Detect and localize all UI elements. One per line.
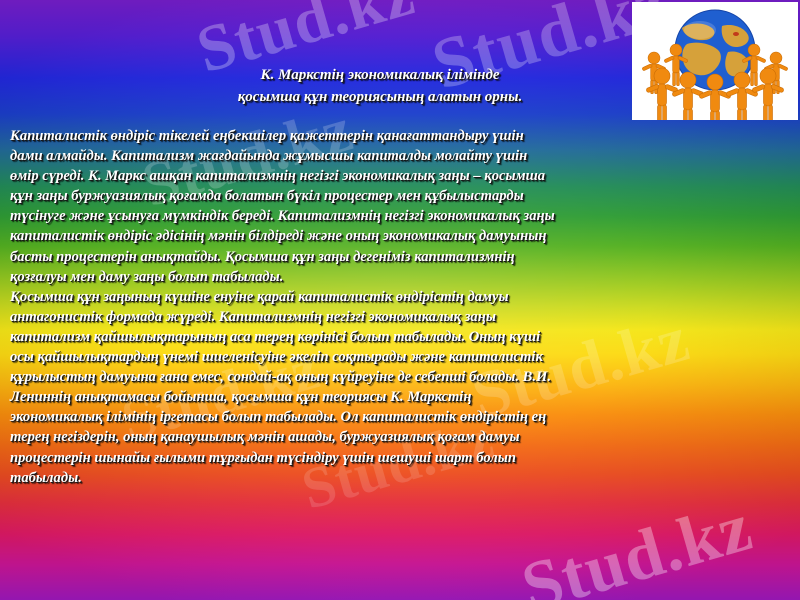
body-line: капитализм қайшылықтарының аса терең көр… xyxy=(10,327,796,347)
body-line: дами алмайды. Капитализм жағдайында жұмы… xyxy=(10,146,796,166)
body-line: Қосымша құн заңының күшіне енуіне қарай … xyxy=(10,287,796,307)
body-line: табылады. xyxy=(10,468,796,488)
slide-title: К. Маркстің экономикалық ілімінде қосымш… xyxy=(130,64,630,108)
body-line: терең негіздерін, оның қанаушылық мәнін … xyxy=(10,427,796,447)
body-line: Капиталистік өндіріс тікелей еңбекшілер … xyxy=(10,126,796,146)
slide-title-line: К. Маркстің экономикалық ілімінде xyxy=(130,64,630,86)
body-line: капиталистік өндіріс әдісінің мәнін білд… xyxy=(10,226,796,246)
body-line: процестерін шынайы ғылыми тұрғыдан түсін… xyxy=(10,448,796,468)
body-line: экономикалық ілімінің іргетасы болып таб… xyxy=(10,407,796,427)
body-line: қозғалуы мен даму заңы болып табылады. xyxy=(10,267,796,287)
body-line: осы қайшылықтардың үнемі шиеленісуіне әк… xyxy=(10,347,796,367)
slide-body-text: Капиталистік өндіріс тікелей еңбекшілер … xyxy=(10,126,796,488)
body-line: өмір сүреді. К. Маркс ашқан капитализмні… xyxy=(10,166,796,186)
body-line: антагонистік формада жүреді. Капитализмн… xyxy=(10,307,796,327)
slide-title-line: қосымша құн теориясының алатын орны. xyxy=(130,86,630,108)
body-line: түсінуге және ұсынуға мүмкіндік береді. … xyxy=(10,206,796,226)
globe-with-people-icon xyxy=(632,2,798,120)
globe-people-image xyxy=(632,2,798,120)
body-line: басты процестерін анықтайды. Қосымша құн… xyxy=(10,247,796,267)
body-line: Лениннің анықтамасы бойынша, қосымша құн… xyxy=(10,387,796,407)
body-line: құрылыстың дамуына ғана емес, сондай-ақ … xyxy=(10,367,796,387)
watermark-text: Stud.kz xyxy=(514,487,762,600)
body-line: құн заңы буржуазиялық қоғамда болатын бү… xyxy=(10,186,796,206)
presentation-slide: Stud.kz Stud.kz Stud.kz Stud.kz Stud.kz … xyxy=(0,0,800,600)
